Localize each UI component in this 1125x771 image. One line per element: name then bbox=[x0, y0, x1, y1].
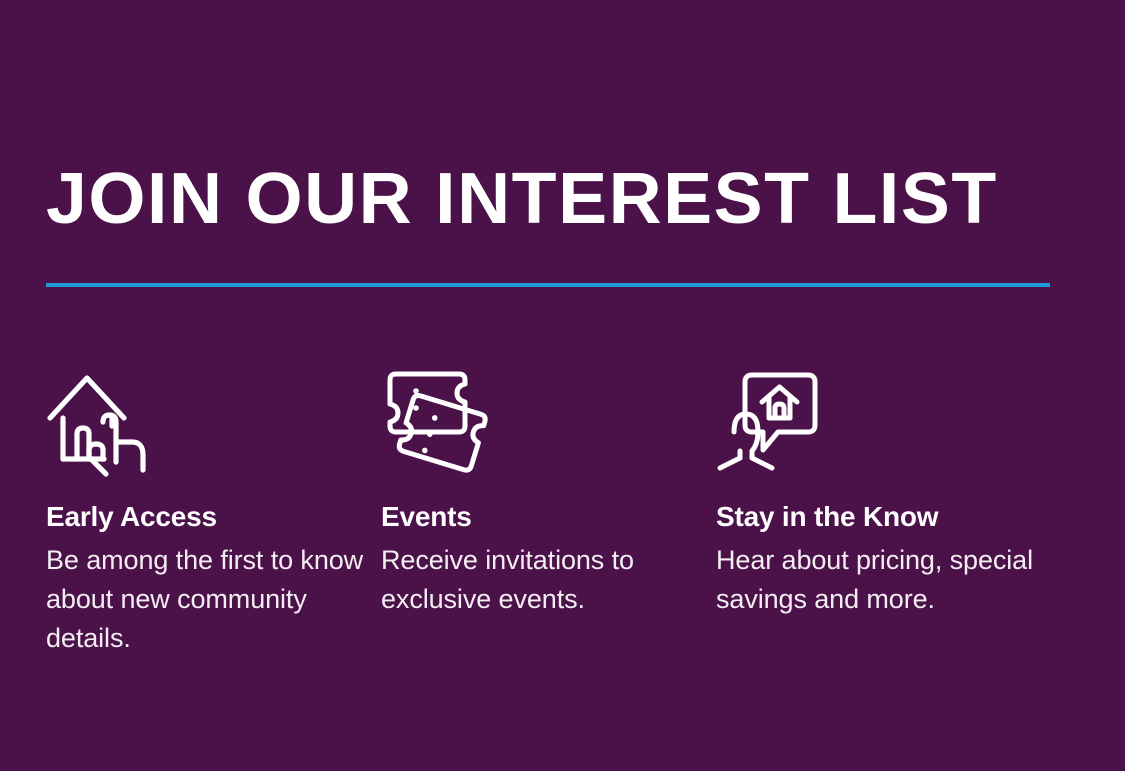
page-title: JOIN OUR INTEREST LIST bbox=[46, 155, 998, 243]
feature-column-early-access: Early Access Be among the first to know … bbox=[46, 352, 366, 658]
feature-column-stay-in-the-know: Stay in the Know Hear about pricing, spe… bbox=[716, 352, 1036, 619]
feature-body: Be among the first to know about new com… bbox=[46, 541, 366, 658]
tickets-icon bbox=[381, 352, 701, 470]
feature-columns: Early Access Be among the first to know … bbox=[0, 352, 1125, 682]
feature-body: Hear about pricing, special savings and … bbox=[716, 541, 1036, 619]
feature-title: Early Access bbox=[46, 500, 366, 534]
accent-divider bbox=[46, 283, 1050, 287]
person-speech-bubble-house-icon bbox=[716, 352, 1036, 470]
feature-body: Receive invitations to exclusive events. bbox=[381, 541, 701, 619]
feature-title: Stay in the Know bbox=[716, 500, 1036, 534]
feature-title: Events bbox=[381, 500, 701, 534]
house-pointing-hand-icon bbox=[46, 352, 366, 470]
feature-column-events: Events Receive invitations to exclusive … bbox=[381, 352, 701, 619]
interest-list-banner: JOIN OUR INTEREST LIST bbox=[0, 0, 1125, 771]
